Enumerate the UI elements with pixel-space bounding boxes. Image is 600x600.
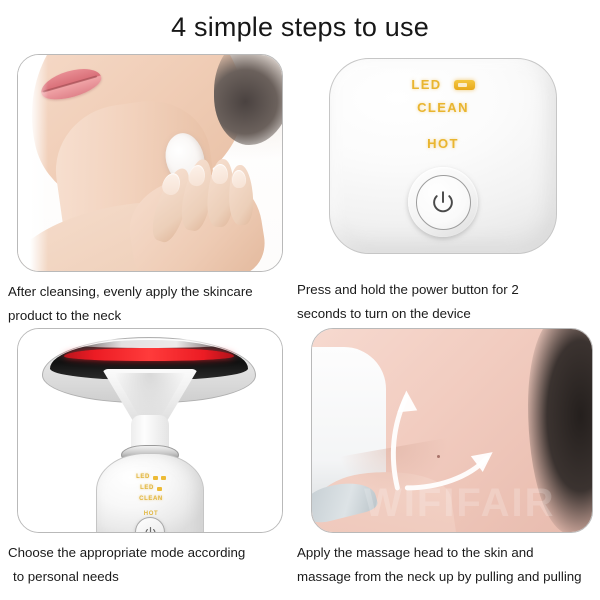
step-1-caption-line-2: product to the neck: [8, 304, 291, 328]
neck-massager-device-illustration: LED LED CLEAN HOT: [18, 329, 282, 532]
clean-mode-label: CLEAN: [417, 100, 469, 115]
step-3-caption: Choose the appropriate mode according to…: [8, 533, 291, 589]
clean-mode-row: CLEAN: [330, 99, 556, 117]
device-led-label-2: LED: [140, 484, 154, 493]
device-clean-label: CLEAN: [139, 495, 163, 504]
device-led-row-2: LED: [116, 484, 186, 493]
step-4-image-panel: WIFIFAIR: [311, 328, 593, 533]
step-2-caption: Press and hold the power button for 2 se…: [297, 270, 600, 326]
step-2-image-panel: LED CLEAN HOT: [311, 54, 593, 270]
skincare-application-illustration: [18, 55, 282, 271]
page-title: 4 simple steps to use: [0, 0, 600, 48]
device-body-control-panel: LED LED CLEAN HOT: [116, 473, 186, 519]
device-led-label: LED: [136, 473, 150, 482]
left-fade: [18, 55, 48, 271]
power-icon: [430, 189, 456, 215]
step-2-caption-line-1: Press and hold the power button for 2: [297, 282, 519, 297]
step-3-image-panel: LED LED CLEAN HOT: [17, 328, 283, 533]
step-3-caption-line-1: Choose the appropriate mode according: [8, 545, 245, 560]
massage-direction-illustration: WIFIFAIR: [312, 329, 592, 532]
device-head-gloss: [58, 339, 240, 348]
power-button-inner[interactable]: [416, 175, 471, 230]
step-4-caption: Apply the massage head to the skin and m…: [297, 533, 600, 589]
step-1-image-panel: [17, 54, 283, 272]
step-3-caption-line-2: to personal needs: [8, 565, 291, 589]
step-1-caption: After cleansing, evenly apply the skinca…: [8, 272, 291, 328]
fingernail-4: [232, 170, 247, 188]
hair-shape: [214, 54, 283, 145]
step-1-caption-line-1: After cleansing, evenly apply the skinca…: [8, 284, 253, 299]
hot-mode-row: HOT: [330, 135, 556, 153]
red-led-strip: [64, 348, 234, 361]
steps-grid: After cleansing, evenly apply the skinca…: [0, 48, 600, 600]
device-power-icon: [144, 526, 157, 534]
device-indicator-dot-3: [157, 487, 162, 491]
battery-indicator-icon: [454, 80, 475, 90]
power-button[interactable]: [408, 167, 478, 237]
hot-mode-label: HOT: [427, 136, 459, 151]
device-indicator-dot-2: [161, 476, 166, 480]
device-indicator-dot-1: [153, 476, 158, 480]
step-card-2: LED CLEAN HOT: [297, 48, 600, 326]
step-card-4: WIFIFAIR Apply the massage head to the s…: [297, 326, 600, 600]
step-4-caption-line-2: massage from the neck up by pulling and …: [297, 565, 600, 589]
step-2-caption-line-2: seconds to turn on the device: [297, 302, 600, 326]
step-card-3: LED LED CLEAN HOT: [8, 326, 291, 600]
massage-direction-arrows: [312, 329, 592, 533]
led-mode-label: LED: [411, 77, 441, 92]
device-clean-row: CLEAN: [116, 495, 186, 504]
step-card-1: After cleansing, evenly apply the skinca…: [8, 48, 291, 326]
arrow-diagonal-path: [407, 458, 486, 488]
arrow-up-head: [397, 391, 417, 413]
device-led-row: LED: [116, 473, 186, 482]
led-mode-row: LED: [330, 77, 556, 92]
step-4-caption-line-1: Apply the massage head to the skin and: [297, 545, 534, 560]
device-control-face: LED CLEAN HOT: [329, 58, 557, 254]
